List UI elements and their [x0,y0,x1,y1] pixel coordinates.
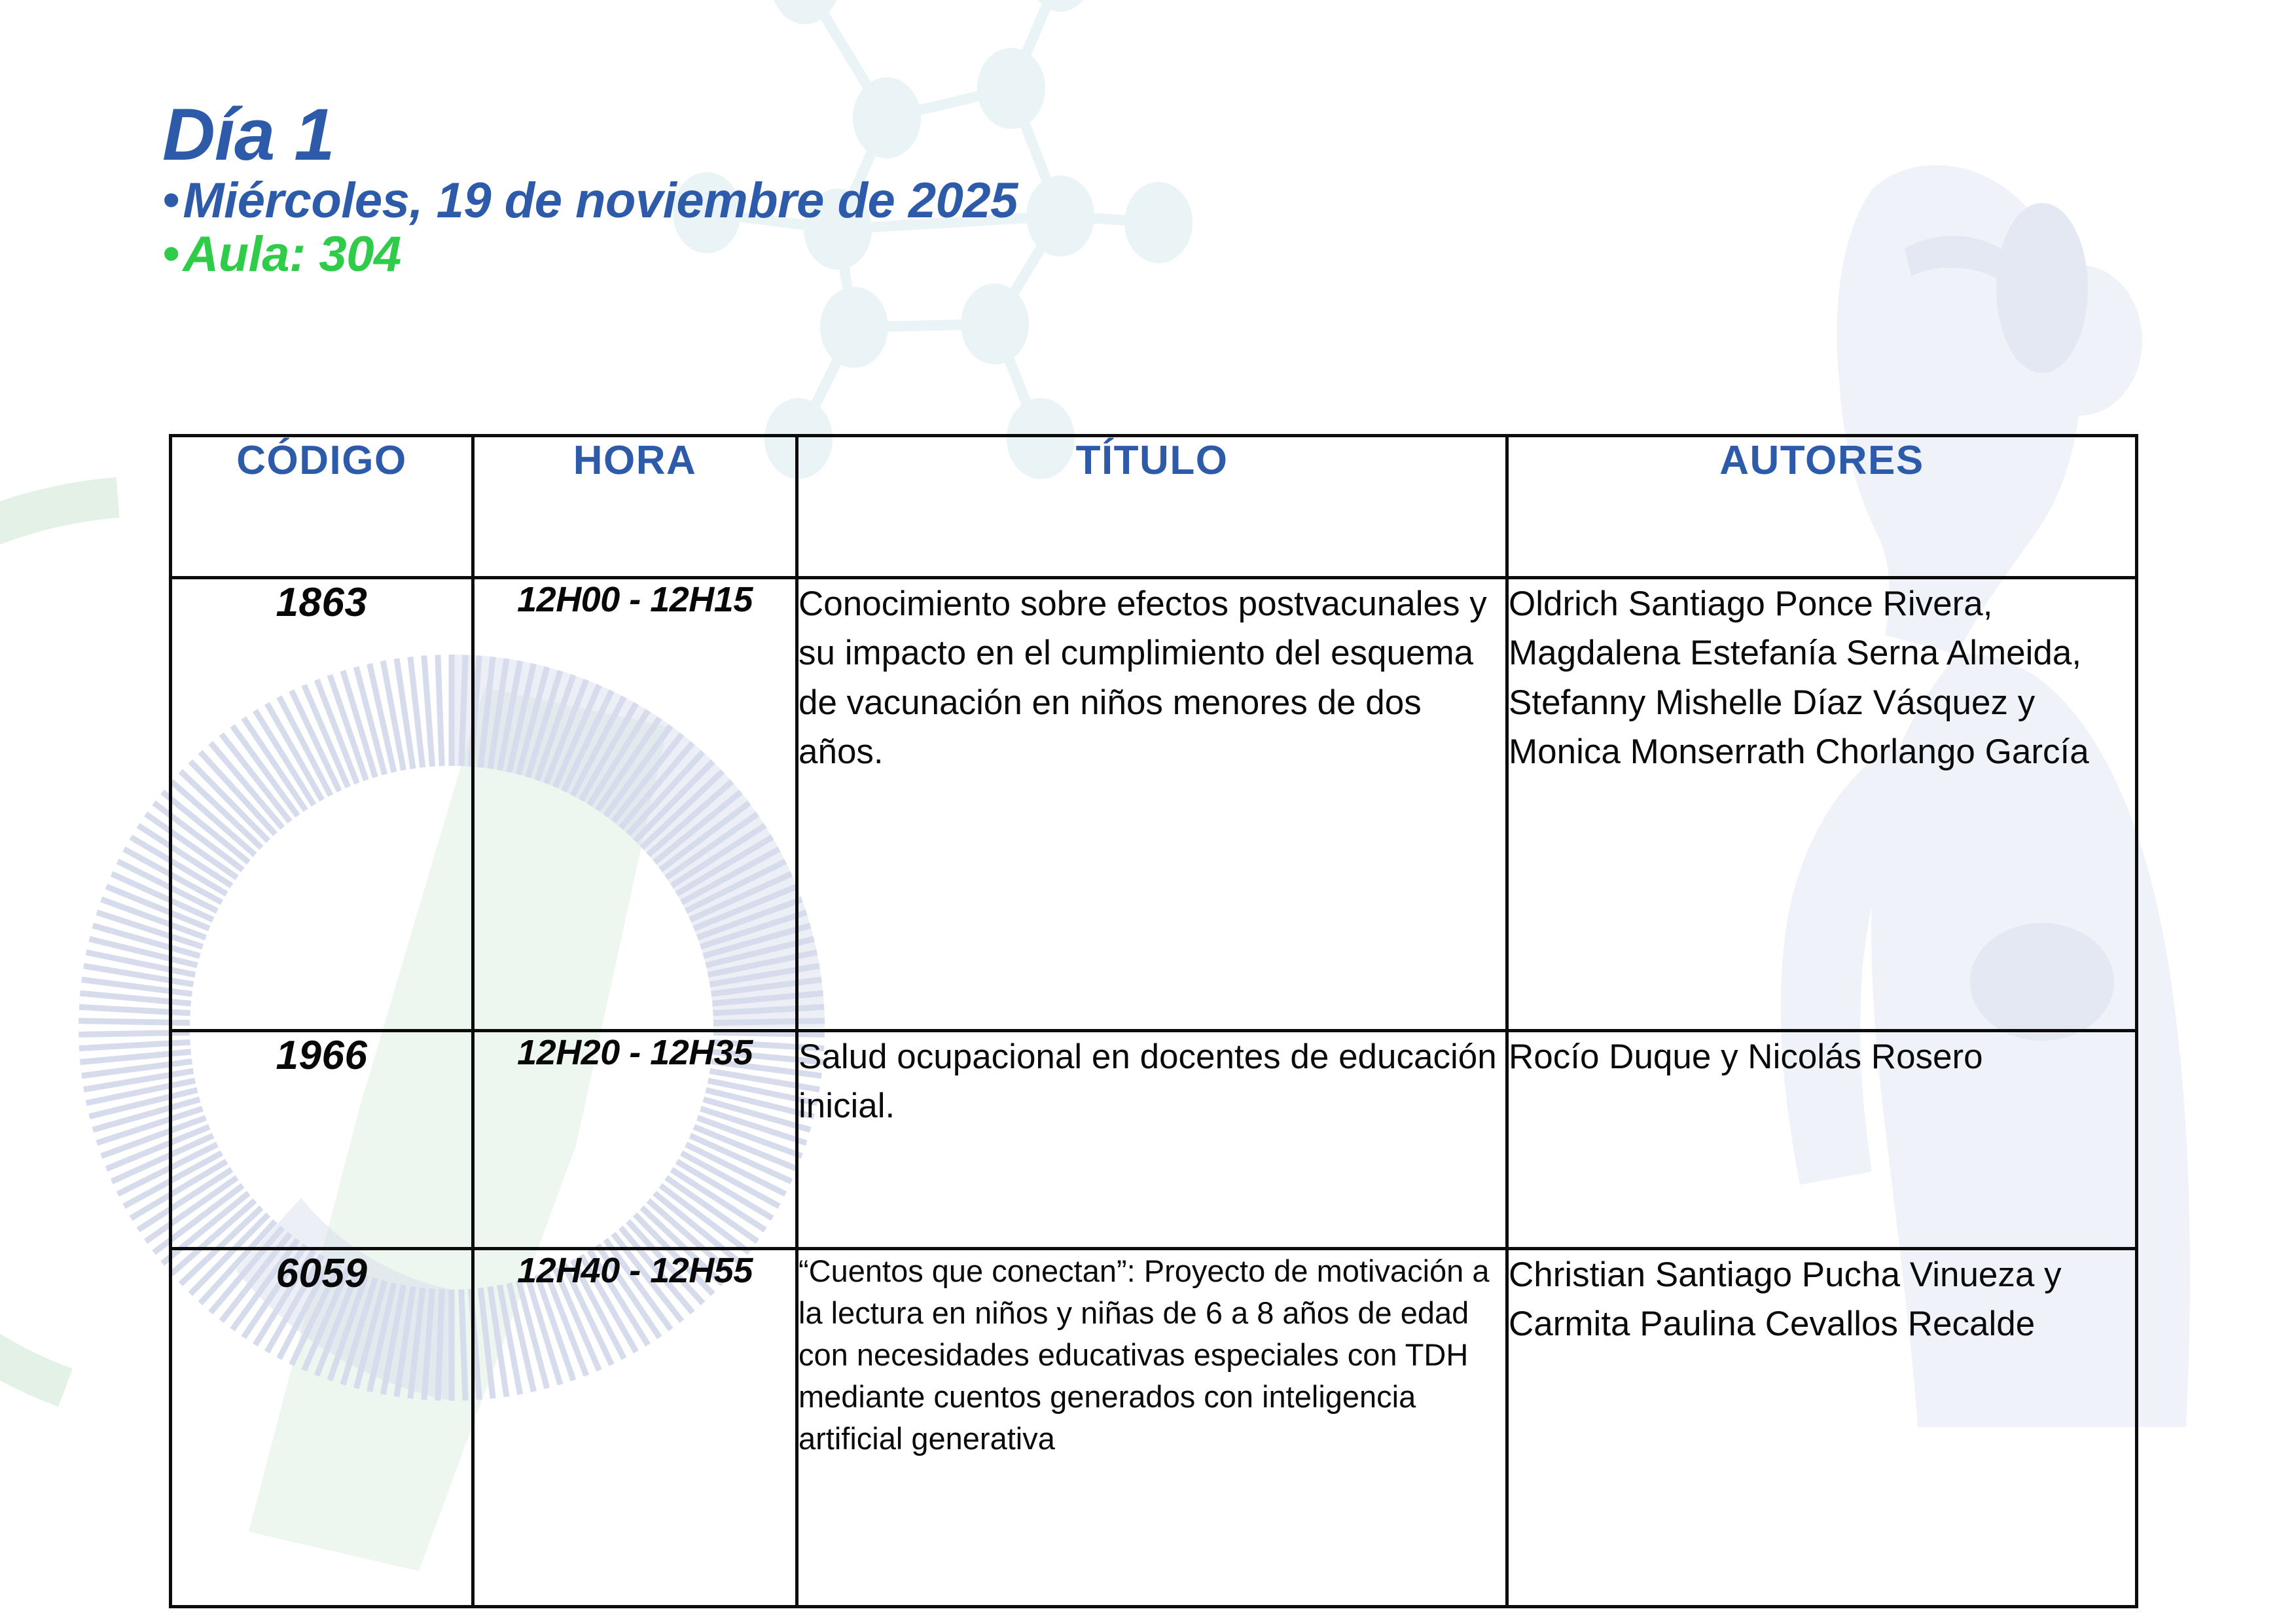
column-header-label: AUTORES [1719,438,1924,483]
title-value: “Cuentos que conectan”: Proyecto de moti… [798,1250,1505,1460]
code-value: 1966 [276,1033,368,1078]
schedule-table: CÓDIGO HORA TÍTULO AUTORES 1863 12H0 [169,434,2138,1608]
room-line: • Aula: 304 [162,228,1018,281]
table-row: 6059 12H40 - 12H55 “Cuentos que conectan… [171,1249,2137,1607]
table-row: 1863 12H00 - 12H15 Conocimiento sobre ef… [171,578,2137,1031]
time-value: 12H00 - 12H15 [517,580,753,619]
room-text: Aula: 304 [183,228,401,281]
column-header-titulo: TÍTULO [797,436,1507,578]
cell-codigo: 1966 [171,1031,473,1249]
cell-codigo: 6059 [171,1249,473,1607]
cell-hora: 12H20 - 12H35 [473,1031,797,1249]
column-header-hora: HORA [473,436,797,578]
column-header-label: TÍTULO [1076,438,1229,483]
cell-titulo: Salud ocupacional en docentes de educaci… [797,1031,1507,1249]
cell-autores: Christian Santiago Pucha Vinueza y Carmi… [1507,1249,2137,1607]
bullet-icon: • [162,174,180,225]
authors-value: Rocío Duque y Nicolás Rosero [1509,1032,2135,1081]
column-header-codigo: CÓDIGO [171,436,473,578]
table-header-row: CÓDIGO HORA TÍTULO AUTORES [171,436,2137,578]
bullet-icon: • [162,228,180,279]
cell-codigo: 1863 [171,578,473,1031]
column-header-label: CÓDIGO [236,438,406,483]
heading-block: Día 1 • Miércoles, 19 de noviembre de 20… [162,98,1018,281]
column-header-autores: AUTORES [1507,436,2137,578]
cell-titulo: “Cuentos que conectan”: Proyecto de moti… [797,1249,1507,1607]
code-value: 6059 [276,1251,368,1296]
page-title: Día 1 [162,98,1018,171]
cell-autores: Oldrich Santiago Ponce Rivera, Magdalena… [1507,578,2137,1031]
time-value: 12H20 - 12H35 [517,1033,753,1072]
table-row: 1966 12H20 - 12H35 Salud ocupacional en … [171,1031,2137,1249]
title-value: Conocimiento sobre efectos postvacunales… [798,579,1505,776]
column-header-label: HORA [573,438,697,483]
cell-hora: 12H00 - 12H15 [473,578,797,1031]
code-value: 1863 [276,580,368,625]
date-text: Miércoles, 19 de noviembre de 2025 [183,174,1018,228]
title-value: Salud ocupacional en docentes de educaci… [798,1032,1505,1131]
time-value: 12H40 - 12H55 [517,1251,753,1290]
cell-titulo: Conocimiento sobre efectos postvacunales… [797,578,1507,1031]
cell-hora: 12H40 - 12H55 [473,1249,797,1607]
date-line: • Miércoles, 19 de noviembre de 2025 [162,174,1018,228]
slide-canvas: Día 1 • Miércoles, 19 de noviembre de 20… [0,0,2296,1624]
authors-value: Christian Santiago Pucha Vinueza y Carmi… [1509,1250,2135,1349]
cell-autores: Rocío Duque y Nicolás Rosero [1507,1031,2137,1249]
authors-value: Oldrich Santiago Ponce Rivera, Magdalena… [1509,579,2135,776]
